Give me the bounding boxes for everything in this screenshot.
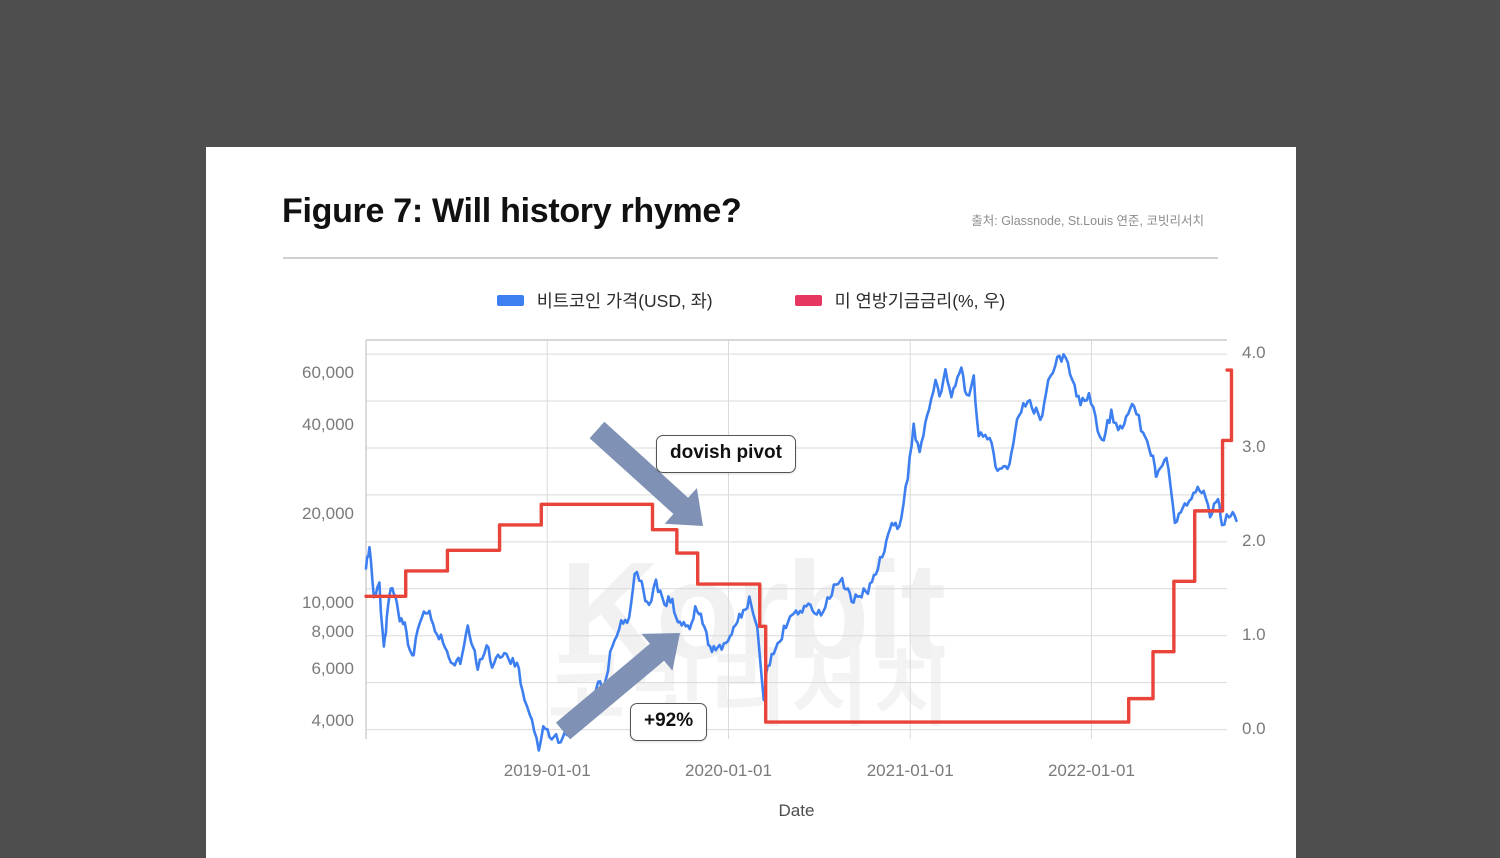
chart-svg [206, 147, 1296, 858]
y-right-tick-4: 0.0 [1242, 719, 1302, 739]
x-tick-0: 2019-01-01 [472, 761, 622, 781]
y-left-tick-5: 6,000 [226, 659, 354, 679]
screenshot-root: Figure 7: Will history rhyme? 출처: Glassn… [0, 0, 1500, 858]
y-right-tick-3: 1.0 [1242, 625, 1302, 645]
slide-canvas: Figure 7: Will history rhyme? 출처: Glassn… [206, 147, 1296, 858]
y-right-tick-0: 4.0 [1242, 343, 1302, 363]
x-tick-2: 2021-01-01 [835, 761, 985, 781]
y-left-tick-2: 20,000 [226, 504, 354, 524]
annotation-dovish-pivot: dovish pivot [656, 435, 796, 473]
y-left-tick-1: 40,000 [226, 415, 354, 435]
y-left-tick-4: 8,000 [226, 622, 354, 642]
y-left-tick-6: 4,000 [226, 711, 354, 731]
x-tick-1: 2020-01-01 [653, 761, 803, 781]
y-left-tick-3: 10,000 [226, 593, 354, 613]
y-right-tick-1: 3.0 [1242, 437, 1302, 457]
chart-area: Korbit 코빗리서치 60,00040,00020,00010,0008,0… [206, 147, 1296, 858]
x-tick-3: 2022-01-01 [1016, 761, 1166, 781]
annotation-pct-gain: +92% [630, 703, 707, 741]
x-axis-title: Date [366, 801, 1227, 821]
y-right-tick-2: 2.0 [1242, 531, 1302, 551]
y-left-tick-0: 60,000 [226, 363, 354, 383]
